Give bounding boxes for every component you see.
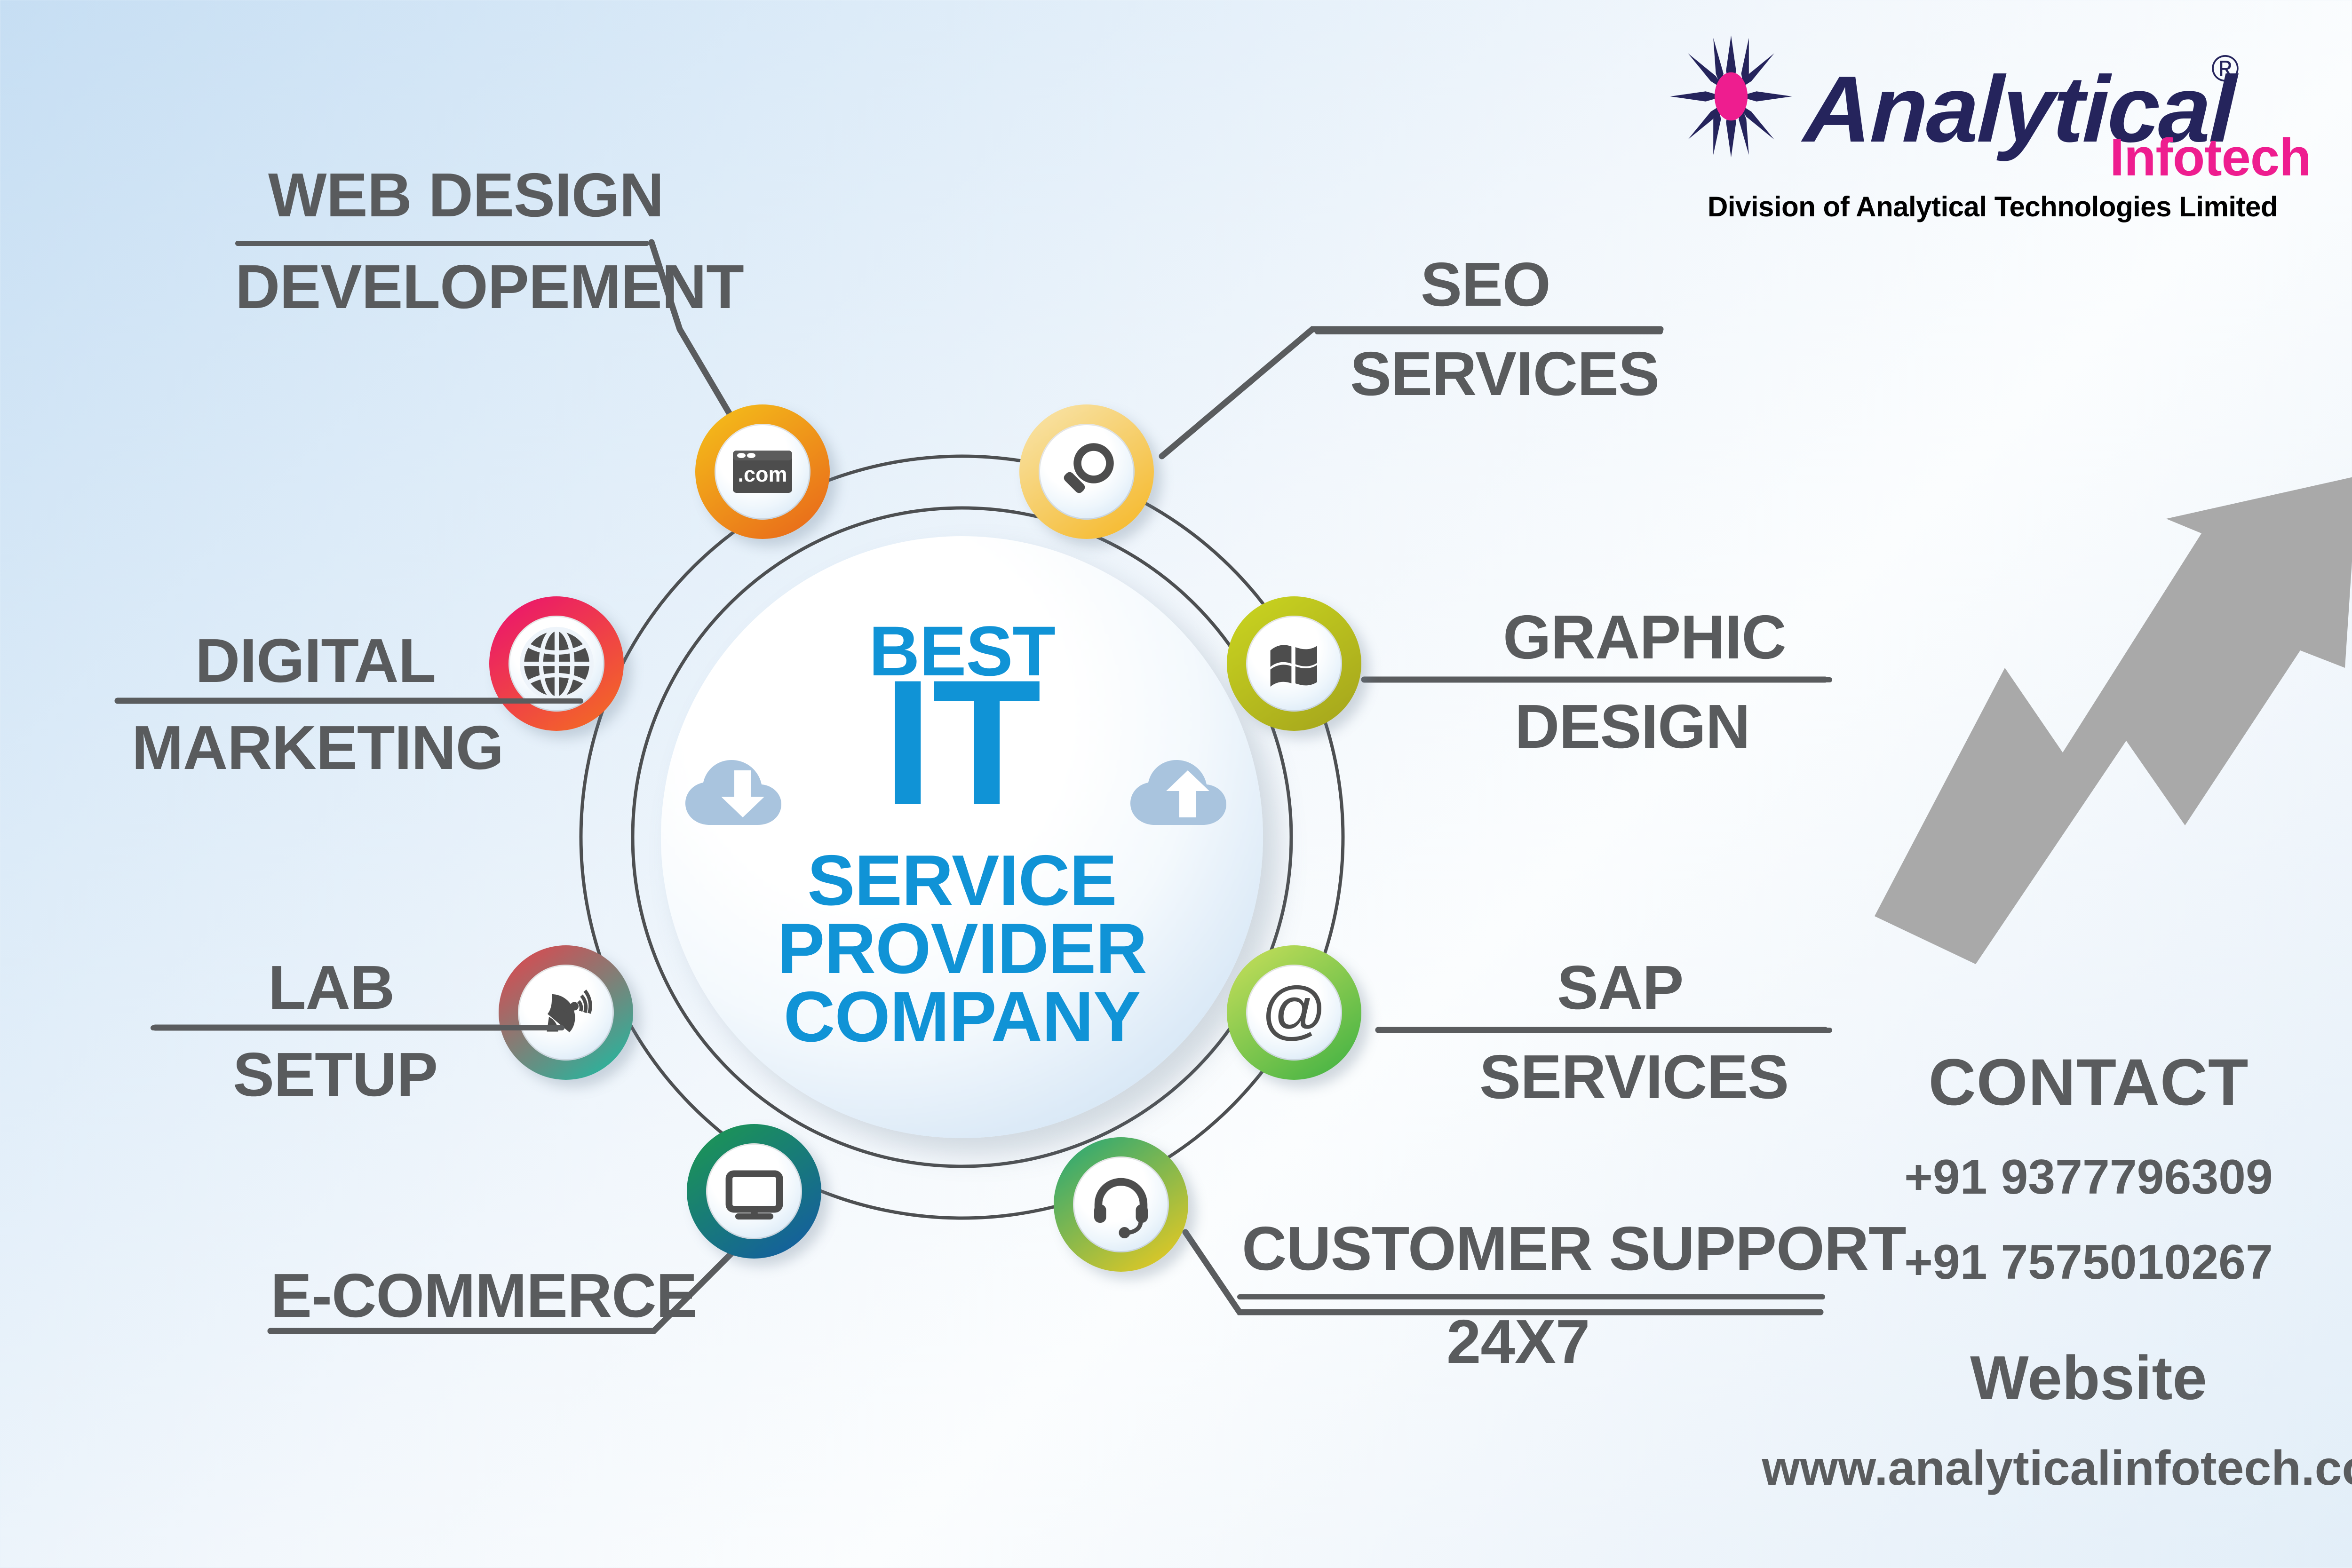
contact-heading: CONTACT [1740, 1044, 2352, 1120]
registered-mark: ® [2211, 47, 2239, 90]
label-customer-support-line2: 24X7 [1446, 1311, 1589, 1372]
svg-text:@: @ [1261, 975, 1327, 1046]
at-sign-icon: @ [1256, 975, 1332, 1050]
label-digital-marketing-rule [115, 698, 583, 704]
label-e-commerce-rule [268, 1329, 654, 1334]
service-icon-digital-marketing[interactable] [489, 596, 624, 731]
label-web-design-rule [235, 241, 649, 246]
label-graphic-design-line1: GRAPHIC [1503, 607, 1786, 667]
headset-icon [1086, 1169, 1156, 1240]
browser-dot-com-icon: .com [727, 436, 798, 507]
badge-inner [1073, 1156, 1169, 1252]
service-icon-sap[interactable]: @ [1227, 945, 1361, 1080]
contact-phone-1[interactable]: +91 9377796309 [1740, 1149, 2352, 1205]
svg-text:.com: .com [738, 462, 787, 486]
label-seo-line1: SEO [1421, 254, 1550, 315]
globe-icon [513, 620, 600, 707]
label-seo-rule [1315, 329, 1663, 334]
service-icon-seo[interactable] [1019, 404, 1154, 539]
badge-inner [509, 616, 604, 712]
label-web-design-line1: WEB DESIGN [268, 165, 664, 225]
brand-sub-name: Infotech [2110, 127, 2311, 188]
center-line-5: COMPANY [661, 976, 1263, 1058]
badge-inner [1246, 616, 1342, 712]
label-lab-setup-line1: LAB [268, 957, 394, 1018]
center-line-2: IT [661, 662, 1263, 823]
label-graphic-design-line2: DESIGN [1515, 696, 1750, 757]
badge-inner: .com [715, 424, 810, 520]
label-web-design-line2: DEVELOPEMENT [235, 256, 744, 317]
label-digital-marketing-line1: DIGITAL [195, 630, 436, 691]
label-e-commerce-line1: E-COMMERCE [270, 1265, 697, 1326]
service-icon-web-design[interactable]: .com [695, 404, 830, 539]
service-icon-graphic-design[interactable] [1227, 596, 1361, 731]
starburst-icon [1668, 33, 1795, 160]
label-digital-marketing-line2: MARKETING [132, 717, 503, 778]
contact-block: CONTACT +91 9377796309 +91 7575010267 We… [1740, 1044, 2352, 1497]
label-customer-support-rule [1237, 1294, 1825, 1299]
label-lab-setup-line2: SETUP [233, 1044, 437, 1105]
website-heading: Website [1740, 1342, 2352, 1413]
service-icon-customer-support[interactable] [1054, 1137, 1188, 1272]
label-sap-rule [1395, 1028, 1832, 1033]
center-sphere: BEST IT SERVICE PROVIDER COMPANY [661, 536, 1263, 1138]
contact-phone-2[interactable]: +91 7575010267 [1740, 1235, 2352, 1291]
badge-inner [1039, 424, 1135, 520]
website-url[interactable]: www.analyticalinfotech.com [1740, 1441, 2352, 1497]
monitor-icon [720, 1157, 788, 1226]
label-lab-setup-rule [151, 1025, 564, 1030]
label-sap-line1: SAP [1557, 957, 1683, 1018]
brand-tagline: Division of Analytical Technologies Limi… [1708, 190, 2278, 223]
badge-inner [518, 965, 614, 1061]
magnifier-icon [1051, 436, 1122, 507]
windows-flag-icon [1261, 631, 1327, 697]
label-seo-line2: SERVICES [1350, 343, 1659, 404]
badge-inner: @ [1246, 965, 1342, 1061]
brand-logo: Analytical ® Infotech Division of Analyt… [1668, 33, 2352, 216]
service-icon-e-commerce[interactable] [687, 1124, 821, 1259]
label-graphic-design-rule [1484, 677, 1832, 682]
growth-arrow-icon [1875, 476, 2352, 964]
service-icon-lab-setup[interactable] [499, 945, 633, 1080]
satellite-dish-icon [531, 977, 601, 1048]
badge-inner [706, 1143, 802, 1239]
